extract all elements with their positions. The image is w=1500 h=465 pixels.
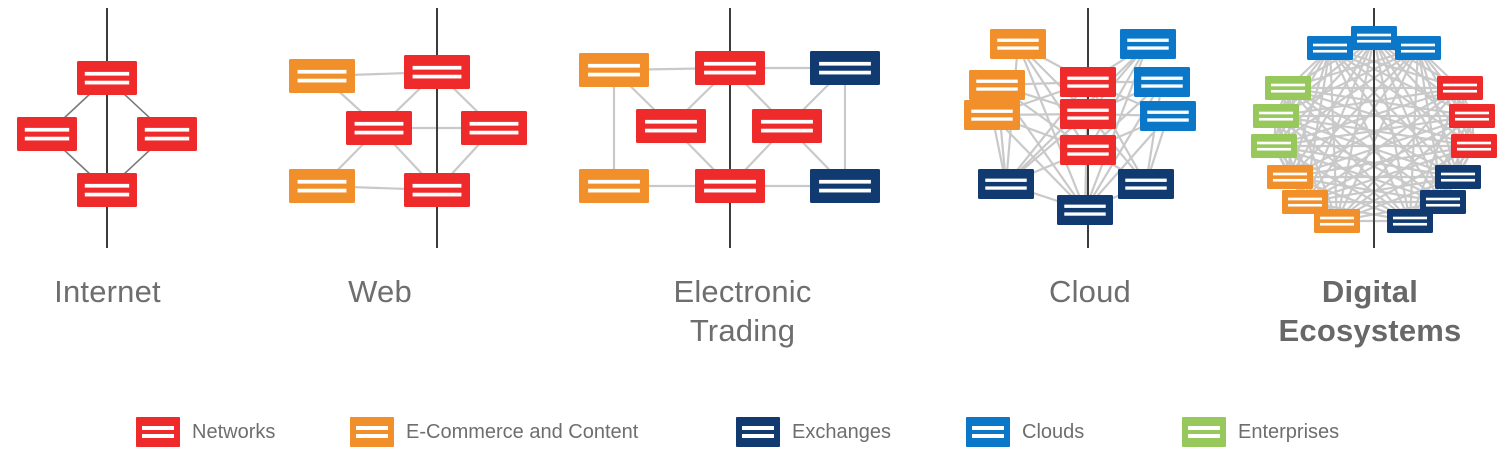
node-bar-2 (997, 46, 1038, 49)
node-networks[interactable] (1060, 99, 1116, 129)
node-clouds[interactable] (1140, 101, 1196, 131)
legend-label-networks: Networks (192, 420, 275, 444)
node-exchanges[interactable] (810, 169, 880, 203)
legend-swatch-bar-1 (356, 426, 388, 430)
node-body (1060, 67, 1116, 97)
stage-internet: Internet (0, 0, 215, 375)
stage-graph-cloud (940, 0, 1240, 265)
stage-label-web: Web (215, 272, 545, 311)
node-body (964, 100, 1020, 130)
node-networks[interactable] (695, 169, 765, 203)
node-body (1437, 76, 1483, 100)
node-body (969, 70, 1025, 100)
node-body (1253, 104, 1299, 128)
node-body (810, 169, 880, 203)
node-bar-1 (1457, 142, 1491, 145)
node-networks[interactable] (137, 117, 197, 151)
node-body (579, 169, 649, 203)
node-bar-1 (645, 120, 697, 124)
node-bar-1 (298, 70, 347, 74)
node-body (990, 29, 1046, 59)
legend-swatch-bar-2 (972, 434, 1004, 438)
node-enterprises[interactable] (1265, 76, 1311, 100)
node-bar-2 (1147, 118, 1188, 121)
node-bar-1 (704, 62, 756, 66)
node-body (1351, 26, 1397, 50)
node-body (346, 111, 412, 145)
node-bar-1 (997, 39, 1038, 42)
node-bar-1 (1127, 39, 1168, 42)
node-body (461, 111, 527, 145)
node-bar-1 (985, 179, 1026, 182)
node-bar-2 (470, 131, 519, 135)
stage-label-cloud: Cloud (940, 272, 1240, 311)
stage-cloud: Cloud (940, 0, 1240, 375)
legend-swatch-bar-2 (742, 434, 774, 438)
node-bar-2 (1067, 116, 1108, 119)
legend-item-networks[interactable]: Networks (136, 412, 275, 452)
node-ecommerce[interactable] (289, 59, 355, 93)
node-enterprises[interactable] (1253, 104, 1299, 128)
node-ecommerce[interactable] (579, 53, 649, 87)
legend-swatch-bar-2 (1188, 434, 1220, 438)
stage-label-electronic-trading: ElectronicTrading (545, 272, 940, 350)
node-body (1449, 104, 1495, 128)
node-clouds[interactable] (1351, 26, 1397, 50)
node-bar-1 (819, 180, 871, 184)
node-bar-2 (704, 189, 756, 193)
node-bar-2 (1259, 118, 1293, 121)
stage-label-line: Web (215, 272, 545, 311)
node-bar-2 (588, 189, 640, 193)
stage-label-line: Ecosystems (1240, 311, 1500, 350)
node-networks[interactable] (77, 173, 137, 207)
node-bar-2 (645, 129, 697, 133)
legend-item-exchanges[interactable]: Exchanges (736, 412, 891, 452)
node-body (810, 51, 880, 85)
node-bar-2 (145, 137, 189, 141)
stage-graph-internet (0, 0, 215, 265)
stages-row: InternetWebElectronicTradingCloudDigital… (0, 0, 1500, 375)
node-bar-2 (298, 189, 347, 193)
node-clouds[interactable] (1395, 36, 1441, 60)
node-body (1435, 165, 1481, 189)
legend-swatch-bar-2 (142, 434, 174, 438)
node-ecommerce[interactable] (289, 169, 355, 203)
node-bar-2 (1064, 212, 1105, 215)
node-bar-2 (1271, 90, 1305, 93)
node-body (289, 59, 355, 93)
node-bar-2 (1127, 46, 1168, 49)
node-group (289, 55, 527, 207)
node-networks[interactable] (1449, 104, 1495, 128)
node-bar-1 (1064, 205, 1105, 208)
node-body (1265, 76, 1311, 100)
legend-swatch-clouds-icon (966, 417, 1010, 447)
node-exchanges[interactable] (978, 169, 1034, 199)
node-networks[interactable] (1060, 67, 1116, 97)
node-body (579, 53, 649, 87)
node-body (17, 117, 77, 151)
node-bar-2 (819, 71, 871, 75)
node-bar-1 (1313, 44, 1347, 47)
legend-swatch-bar-2 (356, 434, 388, 438)
legend-item-ecommerce[interactable]: E-Commerce and Content (350, 412, 638, 452)
node-group (964, 29, 1196, 225)
node-body (289, 169, 355, 203)
node-body (1060, 135, 1116, 165)
node-bar-1 (819, 62, 871, 66)
node-networks[interactable] (1060, 135, 1116, 165)
node-bar-1 (1141, 77, 1182, 80)
node-bar-2 (1426, 204, 1460, 207)
legend-swatch-enterprises-icon (1182, 417, 1226, 447)
legend-label-exchanges: Exchanges (792, 420, 891, 444)
node-clouds[interactable] (1120, 29, 1176, 59)
node-bar-2 (85, 193, 129, 197)
node-bar-1 (298, 180, 347, 184)
node-body (1134, 67, 1190, 97)
node-bar-1 (1147, 111, 1188, 114)
stage-digital-ecosystems: DigitalEcosystems (1240, 0, 1500, 375)
node-bar-2 (819, 189, 871, 193)
node-bar-1 (470, 122, 519, 126)
node-bar-1 (971, 110, 1012, 113)
node-bar-1 (1259, 112, 1293, 115)
legend: NetworksE-Commerce and ContentExchangesC… (0, 412, 1500, 456)
node-body (695, 51, 765, 85)
node-body (1420, 190, 1466, 214)
node-bar-2 (1257, 148, 1291, 151)
node-bar-2 (1313, 50, 1347, 53)
stage-label-line: Digital (1240, 272, 1500, 311)
node-bar-2 (704, 71, 756, 75)
node-bar-2 (1288, 204, 1322, 207)
legend-label-ecommerce: E-Commerce and Content (406, 420, 638, 444)
legend-label-enterprises: Enterprises (1238, 420, 1339, 444)
node-ecommerce[interactable] (964, 100, 1020, 130)
node-bar-2 (85, 81, 129, 85)
node-networks[interactable] (461, 111, 527, 145)
node-bar-1 (1443, 84, 1477, 87)
node-body (1057, 195, 1113, 225)
node-exchanges[interactable] (1057, 195, 1113, 225)
node-ecommerce[interactable] (1314, 209, 1360, 233)
node-bar-2 (355, 131, 404, 135)
node-bar-2 (985, 186, 1026, 189)
node-networks[interactable] (77, 61, 137, 95)
node-bar-1 (145, 128, 189, 132)
legend-swatch-bar-1 (742, 426, 774, 430)
node-bar-1 (761, 120, 813, 124)
node-body (137, 117, 197, 151)
node-bar-1 (1357, 34, 1391, 37)
node-bar-1 (1271, 84, 1305, 87)
node-exchanges[interactable] (810, 51, 880, 85)
node-bar-2 (1401, 50, 1435, 53)
diagram-canvas: InternetWebElectronicTradingCloudDigital… (0, 0, 1500, 465)
legend-item-clouds[interactable]: Clouds (966, 412, 1084, 452)
node-bar-2 (1443, 90, 1477, 93)
node-body (1451, 134, 1497, 158)
node-bar-2 (1067, 84, 1108, 87)
stage-graph-electronic-trading (545, 0, 940, 265)
node-bar-2 (25, 137, 69, 141)
node-clouds[interactable] (1134, 67, 1190, 97)
node-body (404, 173, 470, 207)
node-bar-2 (298, 79, 347, 83)
node-body (1307, 36, 1353, 60)
stage-label-internet: Internet (0, 272, 215, 311)
node-body (1120, 29, 1176, 59)
node-bar-1 (1320, 217, 1354, 220)
node-bar-1 (1067, 77, 1108, 80)
node-bar-1 (976, 80, 1017, 83)
node-bar-2 (1273, 179, 1307, 182)
node-bar-1 (1426, 198, 1460, 201)
legend-item-enterprises[interactable]: Enterprises (1182, 412, 1339, 452)
legend-swatch-exchanges-icon (736, 417, 780, 447)
node-bar-2 (971, 117, 1012, 120)
node-body (404, 55, 470, 89)
node-body (636, 109, 706, 143)
node-bar-1 (413, 66, 462, 70)
node-exchanges[interactable] (1435, 165, 1481, 189)
node-bar-1 (1273, 173, 1307, 176)
node-bar-2 (1457, 148, 1491, 151)
node-bar-2 (1125, 186, 1166, 189)
stage-label-line: Electronic (545, 272, 940, 311)
node-body (1314, 209, 1360, 233)
node-networks[interactable] (404, 55, 470, 89)
node-enterprises[interactable] (1251, 134, 1297, 158)
node-body (695, 169, 765, 203)
node-ecommerce[interactable] (969, 70, 1025, 100)
node-bar-2 (1141, 84, 1182, 87)
node-bar-1 (1067, 145, 1108, 148)
node-networks[interactable] (404, 173, 470, 207)
node-ecommerce[interactable] (990, 29, 1046, 59)
node-bar-2 (1320, 223, 1354, 226)
node-clouds[interactable] (1307, 36, 1353, 60)
node-bar-2 (1441, 179, 1475, 182)
stage-electronic-trading: ElectronicTrading (545, 0, 940, 375)
node-bar-1 (85, 184, 129, 188)
node-bar-1 (1455, 112, 1489, 115)
node-body (77, 173, 137, 207)
node-bar-2 (588, 73, 640, 77)
node-body (1060, 99, 1116, 129)
node-networks[interactable] (17, 117, 77, 151)
node-bar-2 (413, 193, 462, 197)
node-bar-1 (25, 128, 69, 132)
stage-graph-digital-ecosystems (1240, 0, 1500, 265)
node-body (978, 169, 1034, 199)
node-bar-1 (588, 64, 640, 68)
node-networks[interactable] (1451, 134, 1497, 158)
legend-swatch-ecommerce-icon (350, 417, 394, 447)
node-ecommerce[interactable] (579, 169, 649, 203)
node-bar-1 (1067, 109, 1108, 112)
node-bar-2 (413, 75, 462, 79)
node-bar-1 (1441, 173, 1475, 176)
node-bar-1 (355, 122, 404, 126)
node-networks[interactable] (1437, 76, 1483, 100)
legend-swatch-bar-1 (142, 426, 174, 430)
stage-graph-web (215, 0, 545, 265)
node-networks[interactable] (752, 109, 822, 143)
node-bar-1 (85, 72, 129, 76)
stage-label-line: Trading (545, 311, 940, 350)
node-bar-1 (1393, 217, 1427, 220)
node-bar-2 (1067, 152, 1108, 155)
node-bar-2 (976, 87, 1017, 90)
node-bar-1 (704, 180, 756, 184)
node-body (1251, 134, 1297, 158)
legend-swatch-bar-1 (972, 426, 1004, 430)
stage-label-line: Internet (0, 272, 215, 311)
node-bar-1 (1257, 142, 1291, 145)
node-bar-2 (761, 129, 813, 133)
stage-label-digital-ecosystems: DigitalEcosystems (1240, 272, 1500, 350)
node-ecommerce[interactable] (1267, 165, 1313, 189)
node-body (1118, 169, 1174, 199)
legend-swatch-bar-1 (1188, 426, 1220, 430)
node-bar-1 (1288, 198, 1322, 201)
node-body (1395, 36, 1441, 60)
node-bar-1 (1125, 179, 1166, 182)
node-bar-2 (1393, 223, 1427, 226)
node-bar-1 (413, 184, 462, 188)
node-body (1267, 165, 1313, 189)
node-bar-1 (588, 180, 640, 184)
node-body (752, 109, 822, 143)
stage-web: Web (215, 0, 545, 375)
node-networks[interactable] (636, 109, 706, 143)
node-bar-2 (1357, 40, 1391, 43)
node-bar-2 (1455, 118, 1489, 121)
node-exchanges[interactable] (1420, 190, 1466, 214)
node-bar-1 (1401, 44, 1435, 47)
legend-swatch-networks-icon (136, 417, 180, 447)
node-networks[interactable] (695, 51, 765, 85)
node-networks[interactable] (346, 111, 412, 145)
stage-label-line: Cloud (940, 272, 1240, 311)
node-exchanges[interactable] (1118, 169, 1174, 199)
legend-label-clouds: Clouds (1022, 420, 1084, 444)
node-body (1140, 101, 1196, 131)
node-body (77, 61, 137, 95)
